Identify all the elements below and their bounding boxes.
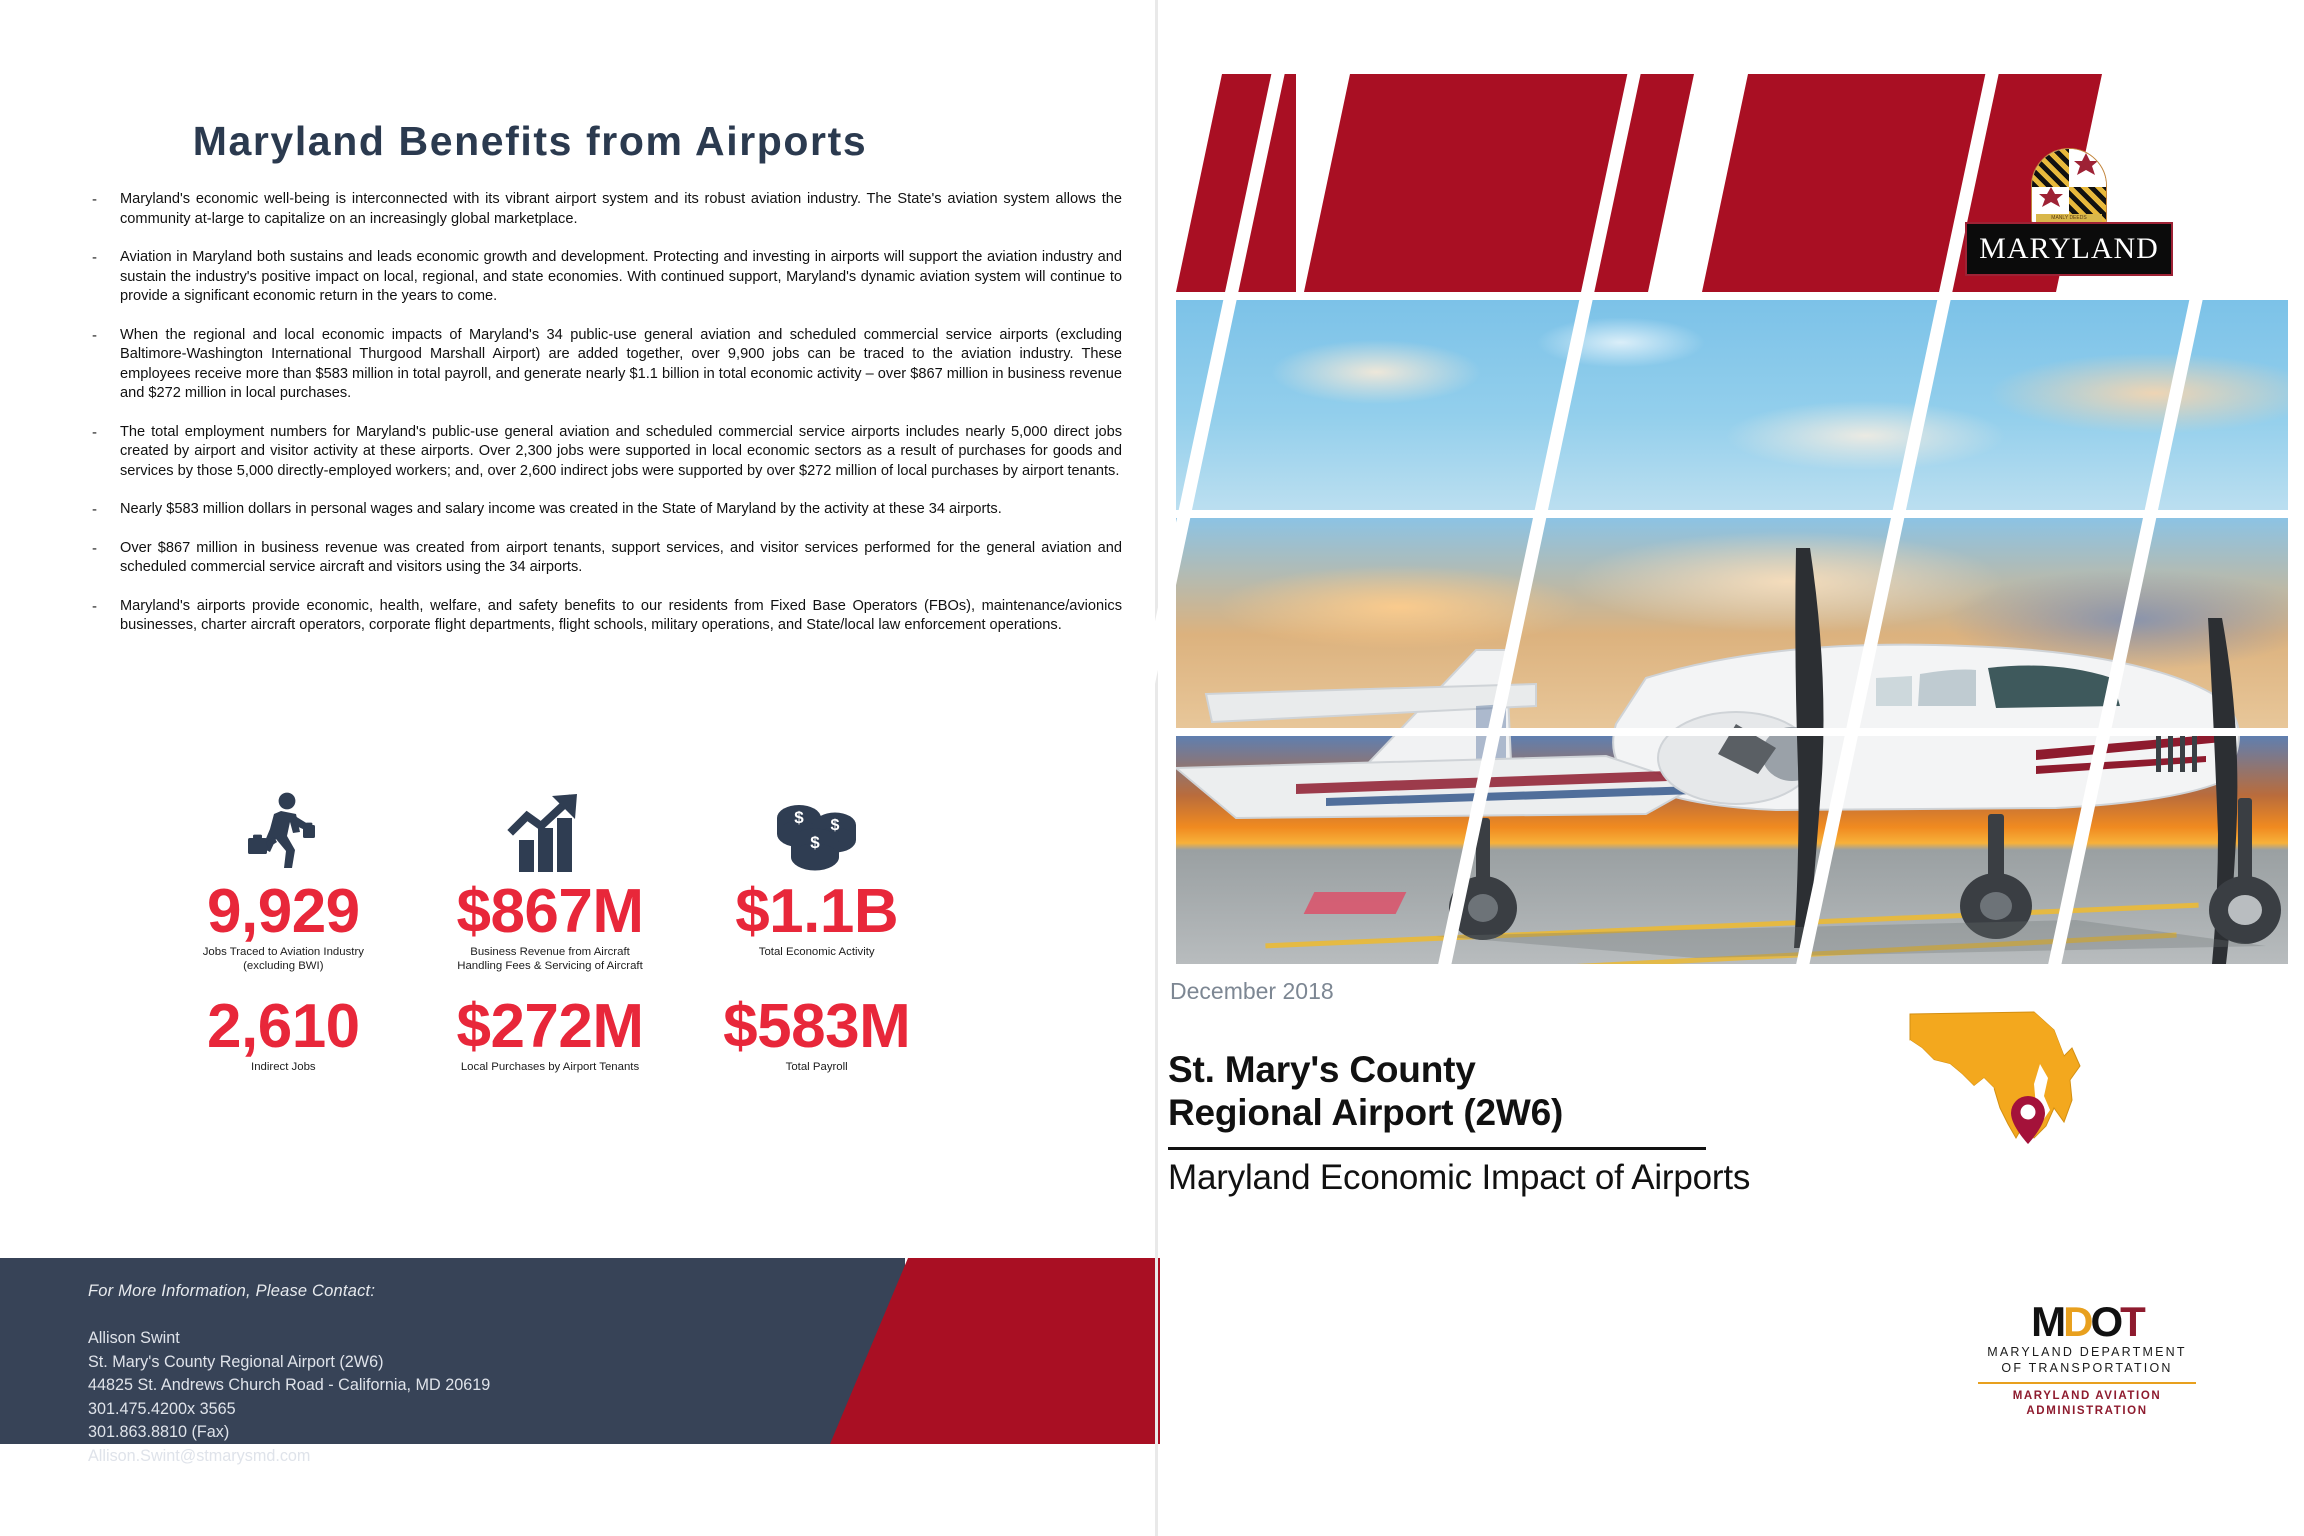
aircraft-photo-strips — [1176, 300, 2288, 964]
maryland-seal-icon: MANLY DEEDS — [2031, 148, 2107, 226]
stat-value: $272M — [423, 995, 678, 1058]
stat-total-economic-activity: $ $ $ $1.1B Total Economic Activity — [683, 790, 950, 973]
list-item: - When the regional and local economic i… — [92, 326, 1122, 404]
stat-total-payroll: $583M Total Payroll — [683, 995, 950, 1074]
bullet-marker: - — [92, 423, 120, 482]
page-title: Maryland Benefits from Airports — [0, 118, 1060, 165]
maryland-wordmark: MARYLAND — [1979, 232, 2159, 266]
red-shape-2 — [1304, 74, 1694, 292]
stat-value: 2,610 — [156, 995, 411, 1058]
mdot-letter-m: M — [2031, 1298, 2063, 1345]
svg-text:$: $ — [794, 808, 804, 827]
bullet-text: Maryland's airports provide economic, he… — [120, 597, 1122, 636]
list-item: - Nearly $583 million dollars in persona… — [92, 500, 1122, 520]
bullet-marker: - — [92, 539, 120, 578]
mdot-wordmark: MDOT — [1962, 1300, 2212, 1344]
photo-gap — [1176, 510, 2288, 518]
stat-label: Total Economic Activity — [689, 945, 944, 959]
photo-gap — [1176, 728, 2288, 736]
title-rule — [1168, 1147, 1706, 1150]
list-item: - Maryland's airports provide economic, … — [92, 597, 1122, 636]
mdot-logo: MDOT MARYLAND DEPARTMENT OF TRANSPORTATI… — [1962, 1300, 2212, 1428]
stat-value: $1.1B — [689, 880, 944, 943]
stat-indirect-jobs: 2,610 Indirect Jobs — [150, 995, 417, 1074]
stat-label: Jobs Traced to Aviation Industry(excludi… — [156, 945, 411, 973]
statistics-infographic: 9,929 Jobs Traced to Aviation Industry(e… — [150, 790, 950, 1074]
mdot-dept-line2: OF TRANSPORTATION — [1962, 1360, 2212, 1376]
airport-title-line2: Regional Airport (2W6) — [1168, 1091, 1728, 1134]
stat-value: $867M — [423, 880, 678, 943]
list-item: - Over $867 million in business revenue … — [92, 539, 1122, 578]
bullet-text: Over $867 million in business revenue wa… — [120, 539, 1122, 578]
photo-strip-aircraft-lower — [1176, 736, 2288, 964]
svg-text:$: $ — [810, 833, 820, 852]
stats-row-1: 9,929 Jobs Traced to Aviation Industry(e… — [150, 790, 950, 973]
mdot-letter-o: O — [2091, 1298, 2121, 1345]
maa-line2: ADMINISTRATION — [1962, 1404, 2212, 1419]
contact-email[interactable]: Allison.Swint@stmarysmd.com — [88, 1445, 848, 1469]
bullet-marker: - — [92, 326, 120, 404]
benefits-bullet-list: - Maryland's economic well-being is inte… — [92, 190, 1122, 655]
title-block: St. Mary's County Regional Airport (2W6)… — [1168, 1048, 1728, 1198]
stat-value: 9,929 — [156, 880, 411, 943]
maryland-state-map — [1858, 1004, 2088, 1154]
publication-date: December 2018 — [1170, 978, 1334, 1005]
mdot-rule — [1978, 1382, 2196, 1384]
contact-info: For More Information, Please Contact: Al… — [88, 1282, 848, 1468]
maryland-wordmark-plate: MARYLAND — [1965, 222, 2173, 276]
contact-heading: For More Information, Please Contact: — [88, 1282, 848, 1301]
stat-label: Indirect Jobs — [156, 1060, 411, 1074]
bullet-marker: - — [92, 190, 120, 229]
bullet-marker: - — [92, 500, 120, 520]
contact-airport: St. Mary's County Regional Airport (2W6) — [88, 1351, 848, 1375]
stat-business-revenue: $867M Business Revenue from AircraftHand… — [417, 790, 684, 973]
bullet-text: Maryland's economic well-being is interc… — [120, 190, 1122, 229]
money-coins-icon: $ $ $ — [689, 790, 944, 876]
airport-title-line1: St. Mary's County — [1168, 1048, 1728, 1091]
maa-line1: MARYLAND AVIATION — [1962, 1389, 2212, 1404]
running-businessperson-icon — [156, 790, 411, 876]
bullet-text: Nearly $583 million dollars in personal … — [120, 500, 1122, 520]
photo-strip-aircraft-upper — [1176, 518, 2288, 730]
stat-local-purchases: $272M Local Purchases by Airport Tenants — [417, 995, 684, 1074]
list-item: - Aviation in Maryland both sustains and… — [92, 248, 1122, 307]
mdot-dept-line1: MARYLAND DEPARTMENT — [1962, 1344, 2212, 1360]
photo-strip-sky — [1176, 300, 2288, 512]
svg-text:$: $ — [830, 817, 839, 834]
photo-gap — [1176, 292, 2288, 300]
bullet-marker: - — [92, 597, 120, 636]
bullet-text: When the regional and local economic imp… — [120, 326, 1122, 404]
report-subtitle: Maryland Economic Impact of Airports — [1168, 1158, 1728, 1198]
stats-row-2: 2,610 Indirect Jobs $272M Local Purchase… — [150, 995, 950, 1074]
stat-label: Local Purchases by Airport Tenants — [423, 1060, 678, 1074]
stat-value: $583M — [689, 995, 944, 1058]
list-item: - Maryland's economic well-being is inte… — [92, 190, 1122, 229]
stat-jobs-traced: 9,929 Jobs Traced to Aviation Industry(e… — [150, 790, 417, 973]
mdot-letter-d: D — [2063, 1298, 2090, 1345]
bullet-text: Aviation in Maryland both sustains and l… — [120, 248, 1122, 307]
contact-name: Allison Swint — [88, 1327, 848, 1351]
bullet-text: The total employment numbers for Marylan… — [120, 423, 1122, 482]
growth-chart-icon — [423, 790, 678, 876]
stat-label: Total Payroll — [689, 1060, 944, 1074]
maryland-state-logo: MANLY DEEDS MARYLAND — [1965, 148, 2173, 276]
mdot-letter-t: T — [2120, 1298, 2143, 1345]
contact-address: 44825 St. Andrews Church Road - Californ… — [88, 1374, 848, 1398]
list-item: - The total employment numbers for Maryl… — [92, 423, 1122, 482]
page-divider — [1155, 0, 1158, 1536]
contact-fax: 301.863.8810 (Fax) — [88, 1421, 848, 1445]
stat-label: Business Revenue from AircraftHandling F… — [423, 945, 678, 973]
red-shape-1 — [1176, 74, 1296, 292]
bullet-marker: - — [92, 248, 120, 307]
contact-phone: 301.475.4200x 3565 — [88, 1398, 848, 1422]
